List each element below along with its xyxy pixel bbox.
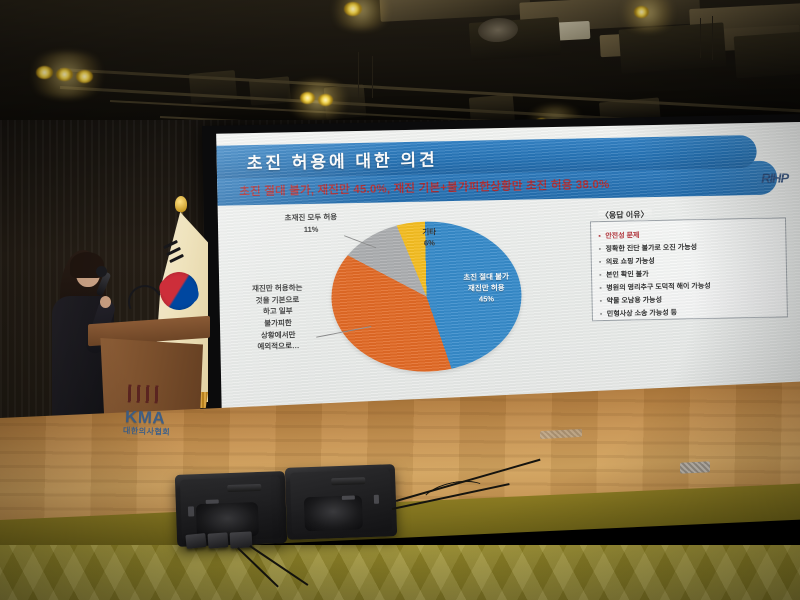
pie-slice-label-yellow: 기타 6% [412, 227, 446, 249]
reason-item-label: 정확한 진단 불가로 오진 가능성 [605, 244, 697, 253]
microphone-head-icon [96, 266, 107, 277]
podium-emblem-icon [128, 384, 161, 403]
podium-logo-subtext: 대한의사협회 [123, 425, 171, 438]
reason-item-label: 안전성 문제 [605, 232, 639, 240]
reason-box-header: 〈응답 이유〉 [598, 209, 652, 221]
floor-vent-icon [680, 461, 710, 474]
auditorium-carpet [0, 545, 800, 600]
reason-item-label: 의료 쇼핑 가능성 [606, 258, 655, 266]
stage-monitor-speaker-right [285, 464, 397, 540]
slide: 초진 허용에 대한 의견 초진 절대 불가, 재진만 45.0%, 재진 기본+… [216, 122, 800, 424]
reason-item-label: 약물 오남용 가능성 [607, 297, 663, 305]
stage-light [300, 92, 315, 104]
floor-device [208, 532, 229, 548]
pie-slice-label-blue: 초진 절대 불가 재진만 허용 45% [449, 272, 524, 306]
floor-device [185, 533, 206, 549]
led-screen-bezel: 초진 허용에 대한 의견 초진 절대 불가, 재진만 45.0%, 재진 기본+… [202, 114, 800, 431]
reason-item: ▪민형사상 소송 가능성 등 [600, 305, 784, 322]
rihp-logo: RIHP [761, 170, 788, 186]
presentation-screen[interactable]: 초진 허용에 대한 의견 초진 절대 불가, 재진만 45.0%, 재진 기본+… [216, 122, 800, 424]
reason-list-wrap: ▪안전성 문제▪정확한 진단 불가로 오진 가능성▪의료 쇼핑 가능성▪본인 확… [590, 217, 788, 321]
pie-callout-orange: 재진만 허용하는 것을 기본으로 하고 일부 불가피한 상황에서만 예외적으로… [231, 282, 324, 354]
stage-light [318, 94, 333, 106]
stage-light [36, 66, 53, 79]
stage-light [344, 2, 362, 16]
stage-light [634, 6, 649, 18]
reason-list: ▪안전성 문제▪정확한 진단 불가로 오진 가능성▪의료 쇼핑 가능성▪본인 확… [598, 227, 784, 321]
reason-item-label: 본인 확인 불가 [606, 271, 649, 279]
presentation-photo-scene: 초진 허용에 대한 의견 초진 절대 불가, 재진만 45.0%, 재진 기본+… [0, 0, 800, 600]
stage-light [56, 68, 73, 81]
pie-chart: 초진 절대 불가 재진만 허용 45% 기타 6% [330, 220, 523, 374]
flag-finial-icon [175, 196, 187, 212]
reason-item-label: 민형사상 소송 가능성 등 [607, 309, 677, 317]
stage-light [76, 70, 93, 83]
page-title: 초진 허용에 대한 의견 [246, 145, 437, 174]
pie-callout-gray: 초재진 모두 허용 11% [263, 211, 359, 236]
reason-item-label: 병원의 영리추구 도덕적 해이 가능성 [606, 283, 711, 292]
